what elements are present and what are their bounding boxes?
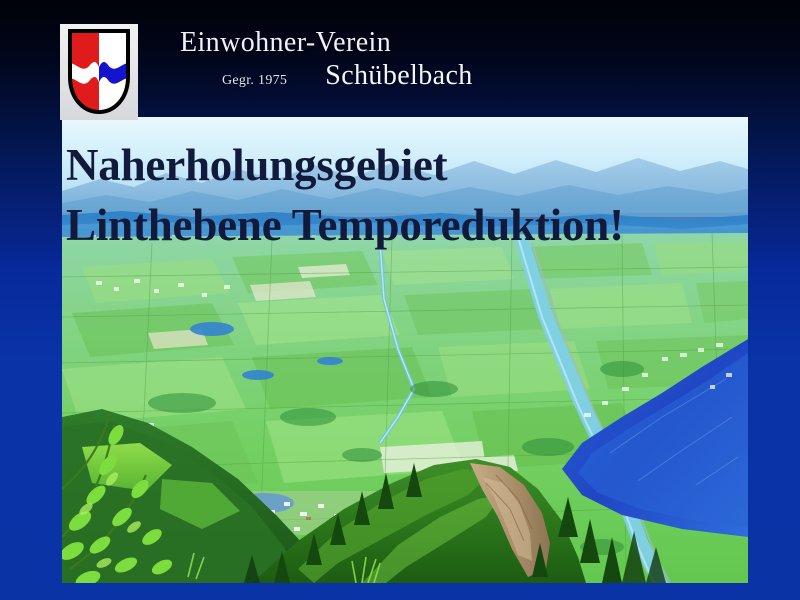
founded-year: Gegr. 1975 [222, 74, 287, 89]
coat-of-arms-plate [60, 24, 138, 120]
slide-header: Einwohner-Verein Gegr. 1975 Schübelbach [0, 0, 800, 118]
organization-name: Einwohner-Verein [180, 28, 740, 57]
municipality-name: Schübelbach [325, 61, 472, 90]
linthebene-aerial-photo [62, 117, 748, 583]
organization-title: Einwohner-Verein Gegr. 1975 Schübelbach [180, 28, 740, 91]
coat-of-arms-icon [60, 27, 138, 117]
organization-subline: Gegr. 1975 Schübelbach [180, 61, 740, 90]
slide-photo [62, 117, 748, 583]
presentation-slide: Naherholungsgebiet Linthebene Temporeduk… [0, 0, 800, 600]
